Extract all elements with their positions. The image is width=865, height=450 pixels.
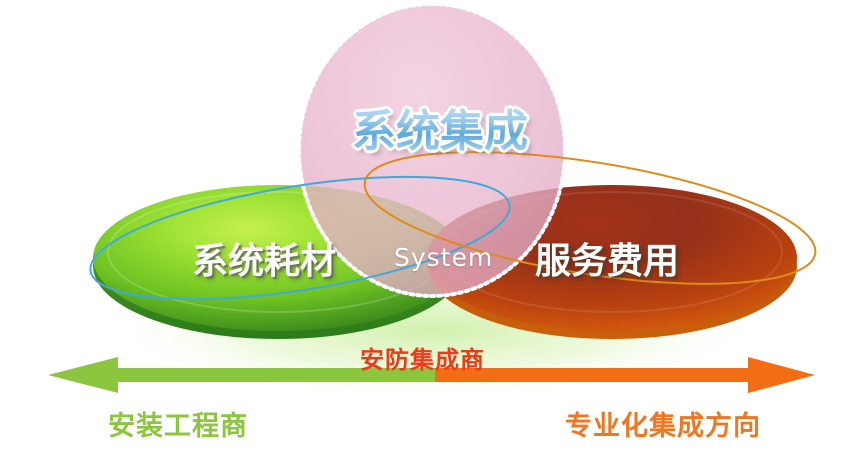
title-text: 系统集成 xyxy=(352,95,528,159)
venn-diagram-svg xyxy=(0,0,865,450)
green-ellipse-label: 系统耗材 xyxy=(192,232,336,284)
red-ellipse-label: 服务费用 xyxy=(535,232,679,284)
center-overlap-label: System xyxy=(394,243,493,272)
axis-right-label: 专业化集成方向 xyxy=(565,404,761,443)
diagram-canvas: 系统集成 系统集成 系统耗材 服务费用 System 安防集成商 安装工程商 专… xyxy=(0,0,865,450)
axis-center-label: 安防集成商 xyxy=(360,340,485,375)
axis-left-label: 安装工程商 xyxy=(108,404,248,443)
